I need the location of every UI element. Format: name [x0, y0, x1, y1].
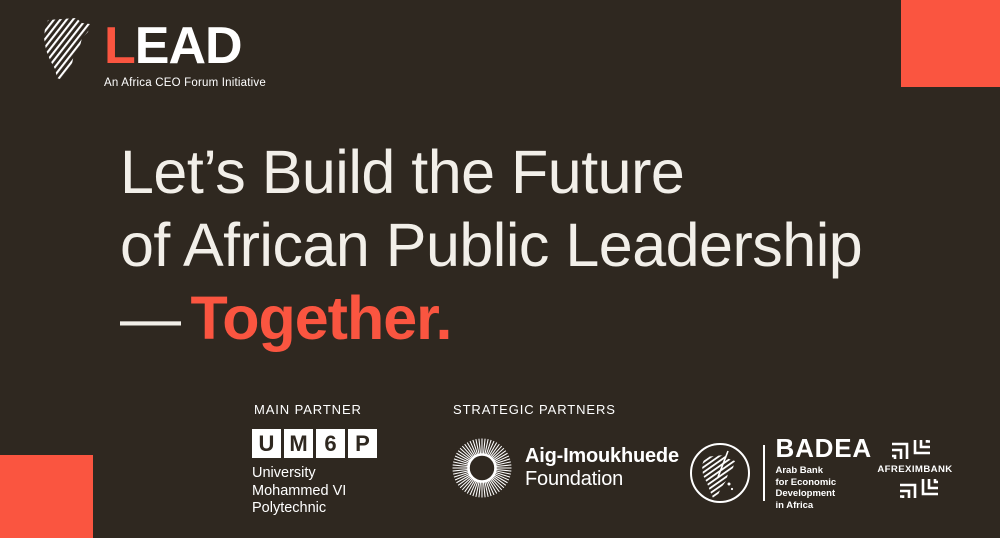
badea-name: BADEA [776, 435, 872, 462]
headline: Let’s Build the Future of African Public… [120, 136, 940, 355]
africa-map-icon [38, 14, 98, 86]
um6p-name-line-2: Mohammed VI [252, 483, 377, 501]
accent-block-top-right [901, 0, 1000, 87]
aig-name-line-1: Aig-Imoukhuede [525, 445, 679, 468]
um6p-name-line-1: University [252, 465, 377, 483]
badea-divider [763, 445, 765, 501]
um6p-tile-6: 6 [316, 429, 345, 458]
um6p-full-name: University Mohammed VI Polytechnic [252, 465, 377, 518]
aig-name-line-2: Foundation [525, 468, 679, 491]
partner-logo-aig-imoukhuede[interactable]: Aig-Imoukhuede Foundation [451, 437, 679, 499]
partner-logo-um6p[interactable]: U M 6 P University Mohammed VI Polytechn… [252, 429, 377, 518]
badea-subtitle: Arab Bank for Economic Development in Af… [776, 465, 872, 511]
sunburst-icon [451, 437, 513, 499]
lead-wordmark: LEAD [104, 20, 266, 72]
lead-wordmark-ead: EAD [135, 17, 242, 75]
um6p-tile-u: U [252, 429, 281, 458]
afreximbank-name: AFREXIMBANK [877, 464, 952, 475]
lead-wordmark-l: L [104, 17, 135, 75]
main-partner-label: MAIN PARTNER [254, 402, 362, 417]
lead-logo[interactable]: LEAD An Africa CEO Forum Initiative [38, 14, 266, 89]
badea-sub-line-3: Development [776, 488, 872, 500]
badea-sub-line-1: Arab Bank [776, 465, 872, 477]
africa-circle-icon [688, 441, 752, 505]
badea-wordmark: BADEA Arab Bank for Economic Development… [776, 435, 872, 511]
um6p-tiles: U M 6 P [252, 429, 377, 458]
partner-logo-afreximbank[interactable]: AFREXIMBANK [874, 432, 956, 506]
lead-tagline: An Africa CEO Forum Initiative [104, 77, 266, 89]
pinwheel-icon: AFREXIMBANK [874, 432, 956, 506]
headline-dash: — [120, 282, 181, 355]
um6p-tile-m: M [284, 429, 313, 458]
headline-accent-word: Together. [191, 282, 452, 355]
headline-line-2: of African Public Leadership [120, 209, 940, 282]
badea-sub-line-2: for Economic [776, 477, 872, 489]
poster-canvas: LEAD An Africa CEO Forum Initiative Let’… [0, 0, 1000, 538]
strategic-partners-label: STRATEGIC PARTNERS [453, 402, 616, 417]
badea-sub-line-4: in Africa [776, 500, 872, 512]
um6p-tile-p: P [348, 429, 377, 458]
aig-wordmark: Aig-Imoukhuede Foundation [525, 445, 679, 491]
partners-section: MAIN PARTNER STRATEGIC PARTNERS U M 6 P … [0, 396, 1000, 538]
um6p-name-line-3: Polytechnic [252, 500, 377, 518]
headline-line-1: Let’s Build the Future [120, 136, 940, 209]
headline-line-3: — Together. [120, 282, 940, 355]
partner-logo-badea[interactable]: BADEA Arab Bank for Economic Development… [688, 435, 872, 511]
